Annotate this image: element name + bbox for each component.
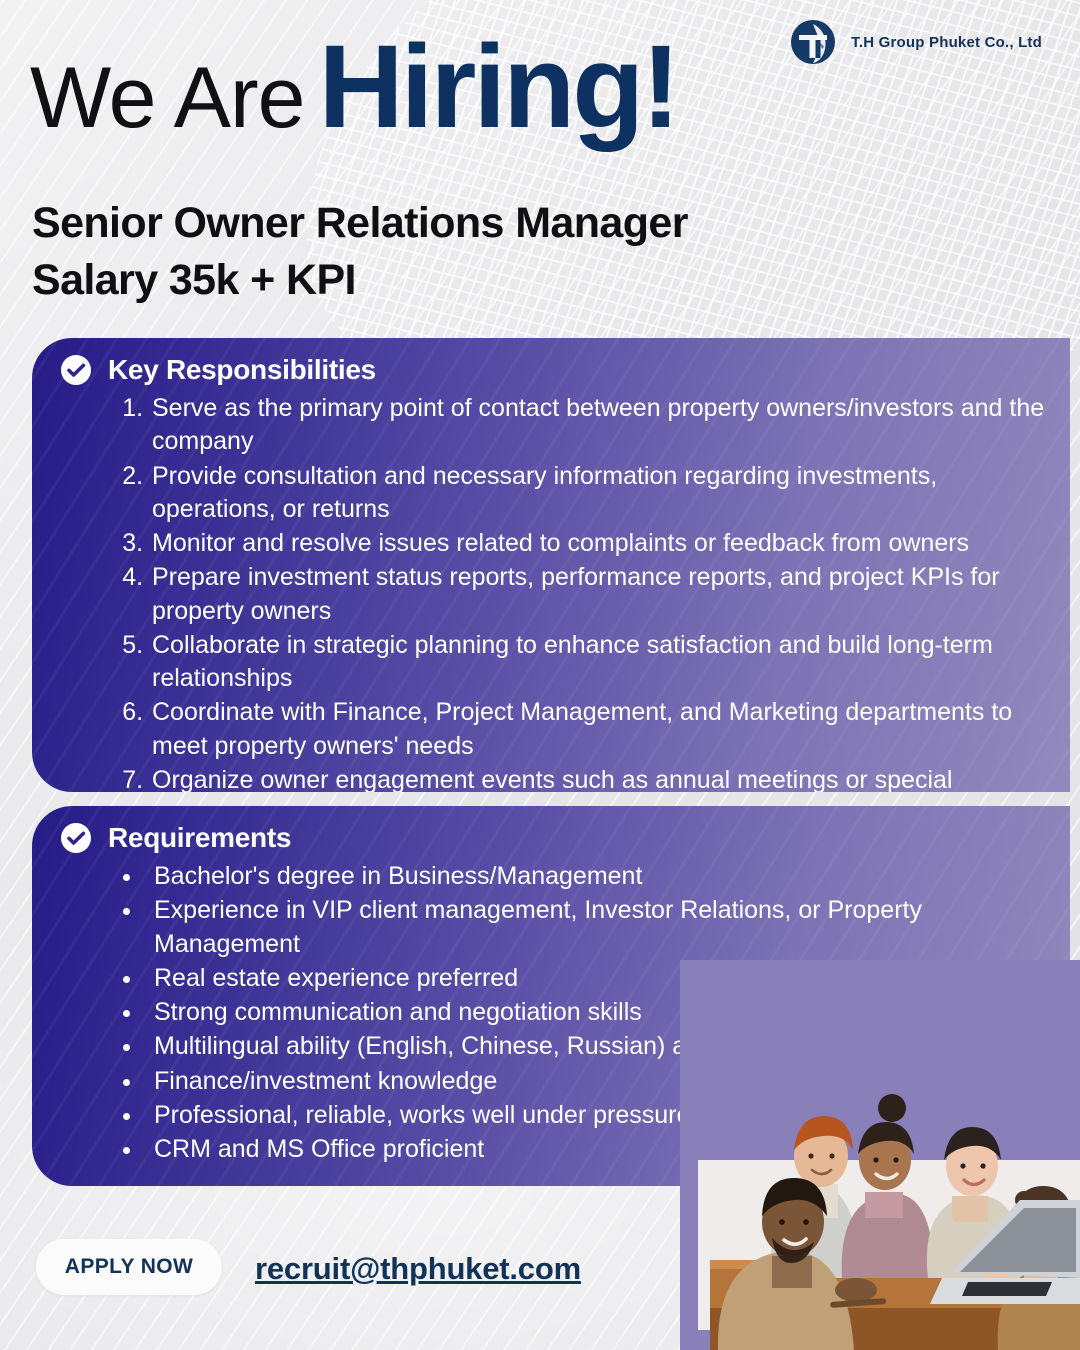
list-item: Real estate experience preferred — [144, 962, 1052, 995]
th-monogram-circle-logo — [789, 18, 837, 66]
requirements-header: Requirements — [32, 806, 1070, 858]
key-responsibilities-body: Serve as the primary point of contact be… — [32, 390, 1070, 792]
list-item: Professional, reliable, works well under… — [144, 1099, 1052, 1132]
hiring-poster: T.H Group Phuket Co., Ltd We Are Hiring!… — [0, 0, 1080, 1350]
check-circle-icon — [60, 354, 92, 386]
requirements-body: Bachelor's degree in Business/Management… — [32, 858, 1070, 1166]
list-item: Strong communication and negotiation ski… — [144, 996, 1052, 1029]
company-name: T.H Group Phuket Co., Ltd — [851, 34, 1042, 51]
key-responsibilities-title: Key Responsibilities — [108, 354, 376, 386]
key-responsibilities-card: Key Responsibilities Serve as the primar… — [32, 338, 1070, 792]
list-item: Bachelor's degree in Business/Management — [144, 860, 1052, 893]
check-circle-icon — [60, 822, 92, 854]
job-title-line1: Senior Owner Relations Manager — [32, 195, 688, 252]
list-item: Finance/investment knowledge — [144, 1065, 1052, 1098]
list-item: Organize owner engagement events such as… — [150, 764, 1052, 792]
requirements-title: Requirements — [108, 822, 291, 854]
headline: We Are Hiring! — [30, 28, 678, 146]
requirements-list: Bachelor's degree in Business/Management… — [104, 860, 1052, 1166]
list-item: Multilingual ability (English, Chinese, … — [144, 1030, 1052, 1063]
list-item: Monitor and resolve issues related to co… — [150, 527, 1052, 560]
apply-now-button[interactable]: APPLY NOW — [36, 1239, 222, 1295]
list-item: Serve as the primary point of contact be… — [150, 392, 1052, 459]
company-logo: T.H Group Phuket Co., Ltd — [789, 18, 1042, 66]
key-responsibilities-header: Key Responsibilities — [32, 338, 1070, 390]
list-item: Collaborate in strategic planning to enh… — [150, 629, 1052, 696]
responsibilities-list: Serve as the primary point of contact be… — [128, 392, 1052, 792]
list-item: Experience in VIP client management, Inv… — [144, 894, 1052, 961]
headline-lead: We Are — [30, 55, 304, 141]
list-item: Prepare investment status reports, perfo… — [150, 561, 1052, 628]
list-item: CRM and MS Office proficient — [144, 1133, 1052, 1166]
list-item: Provide consultation and necessary infor… — [150, 460, 1052, 527]
recruit-email-link[interactable]: recruit@thphuket.com — [255, 1251, 581, 1287]
headline-emphasis: Hiring! — [318, 28, 677, 146]
list-item: Coordinate with Finance, Project Managem… — [150, 696, 1052, 763]
requirements-card: Requirements Bachelor's degree in Busine… — [32, 806, 1070, 1186]
job-title: Senior Owner Relations Manager Salary 35… — [32, 195, 688, 309]
job-title-line2: Salary 35k + KPI — [32, 252, 688, 309]
